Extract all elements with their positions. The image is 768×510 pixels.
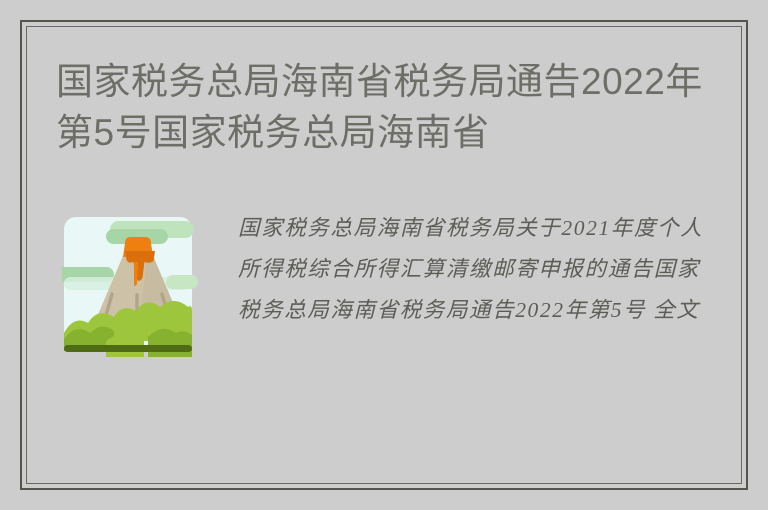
- volcano-illustration: [62, 215, 202, 357]
- page-title: 国家税务总局海南省税务局通告2022年第5号国家税务总局海南省: [56, 56, 712, 158]
- news-card: 国家税务总局海南省税务局通告2022年第5号国家税务总局海南省: [0, 0, 768, 510]
- volcano-icon: [62, 215, 202, 357]
- article-excerpt: 国家税务总局海南省税务局关于2021年度个人所得税综合所得汇算清缴邮寄申报的通告…: [238, 208, 716, 331]
- article-body: 国家税务总局海南省税务局关于2021年度个人所得税综合所得汇算清缴邮寄申报的通告…: [56, 208, 716, 357]
